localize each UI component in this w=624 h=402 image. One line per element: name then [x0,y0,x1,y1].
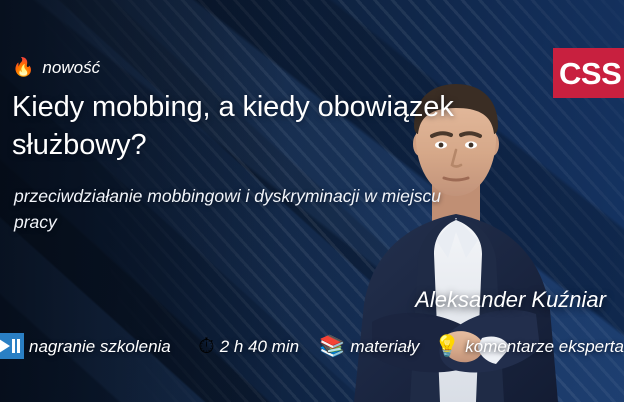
stopwatch-icon: ⏱ [198,336,214,357]
lightbulb-icon: 💡 [434,336,460,357]
feature-label-expert-comments: komentarze eksperta [465,338,624,355]
play-pause-icon [0,333,24,359]
feature-item-materials: 📚 materiały [319,336,419,357]
feature-item-expert-comments: 💡 komentarze eksperta [434,336,624,357]
speaker-name: Aleksander Kuźniar [415,289,606,311]
feature-item-recording: nagranie szkolenia [0,333,171,359]
feature-label-recording: nagranie szkolenia [29,338,171,355]
page-title: Kiedy mobbing, a kiedy obowiązek służbow… [12,88,557,165]
new-badge-label: nowość [42,59,100,76]
feature-bar: nagranie szkolenia ⏱ 2 h 40 min 📚 materi… [0,326,624,366]
fire-icon: 🔥 [12,58,34,76]
books-icon: 📚 [319,336,345,357]
page-subtitle: przeciwdziałanie mobbingowi i dyskrymina… [14,184,484,236]
new-badge: 🔥 nowość [12,58,100,76]
feature-item-duration: ⏱ 2 h 40 min [198,336,299,357]
promo-banner: CSS 🔥 nowość Kiedy mobbing, a kiedy obow… [0,0,624,402]
feature-label-materials: materiały [350,338,419,355]
feature-label-duration: 2 h 40 min [220,338,299,355]
